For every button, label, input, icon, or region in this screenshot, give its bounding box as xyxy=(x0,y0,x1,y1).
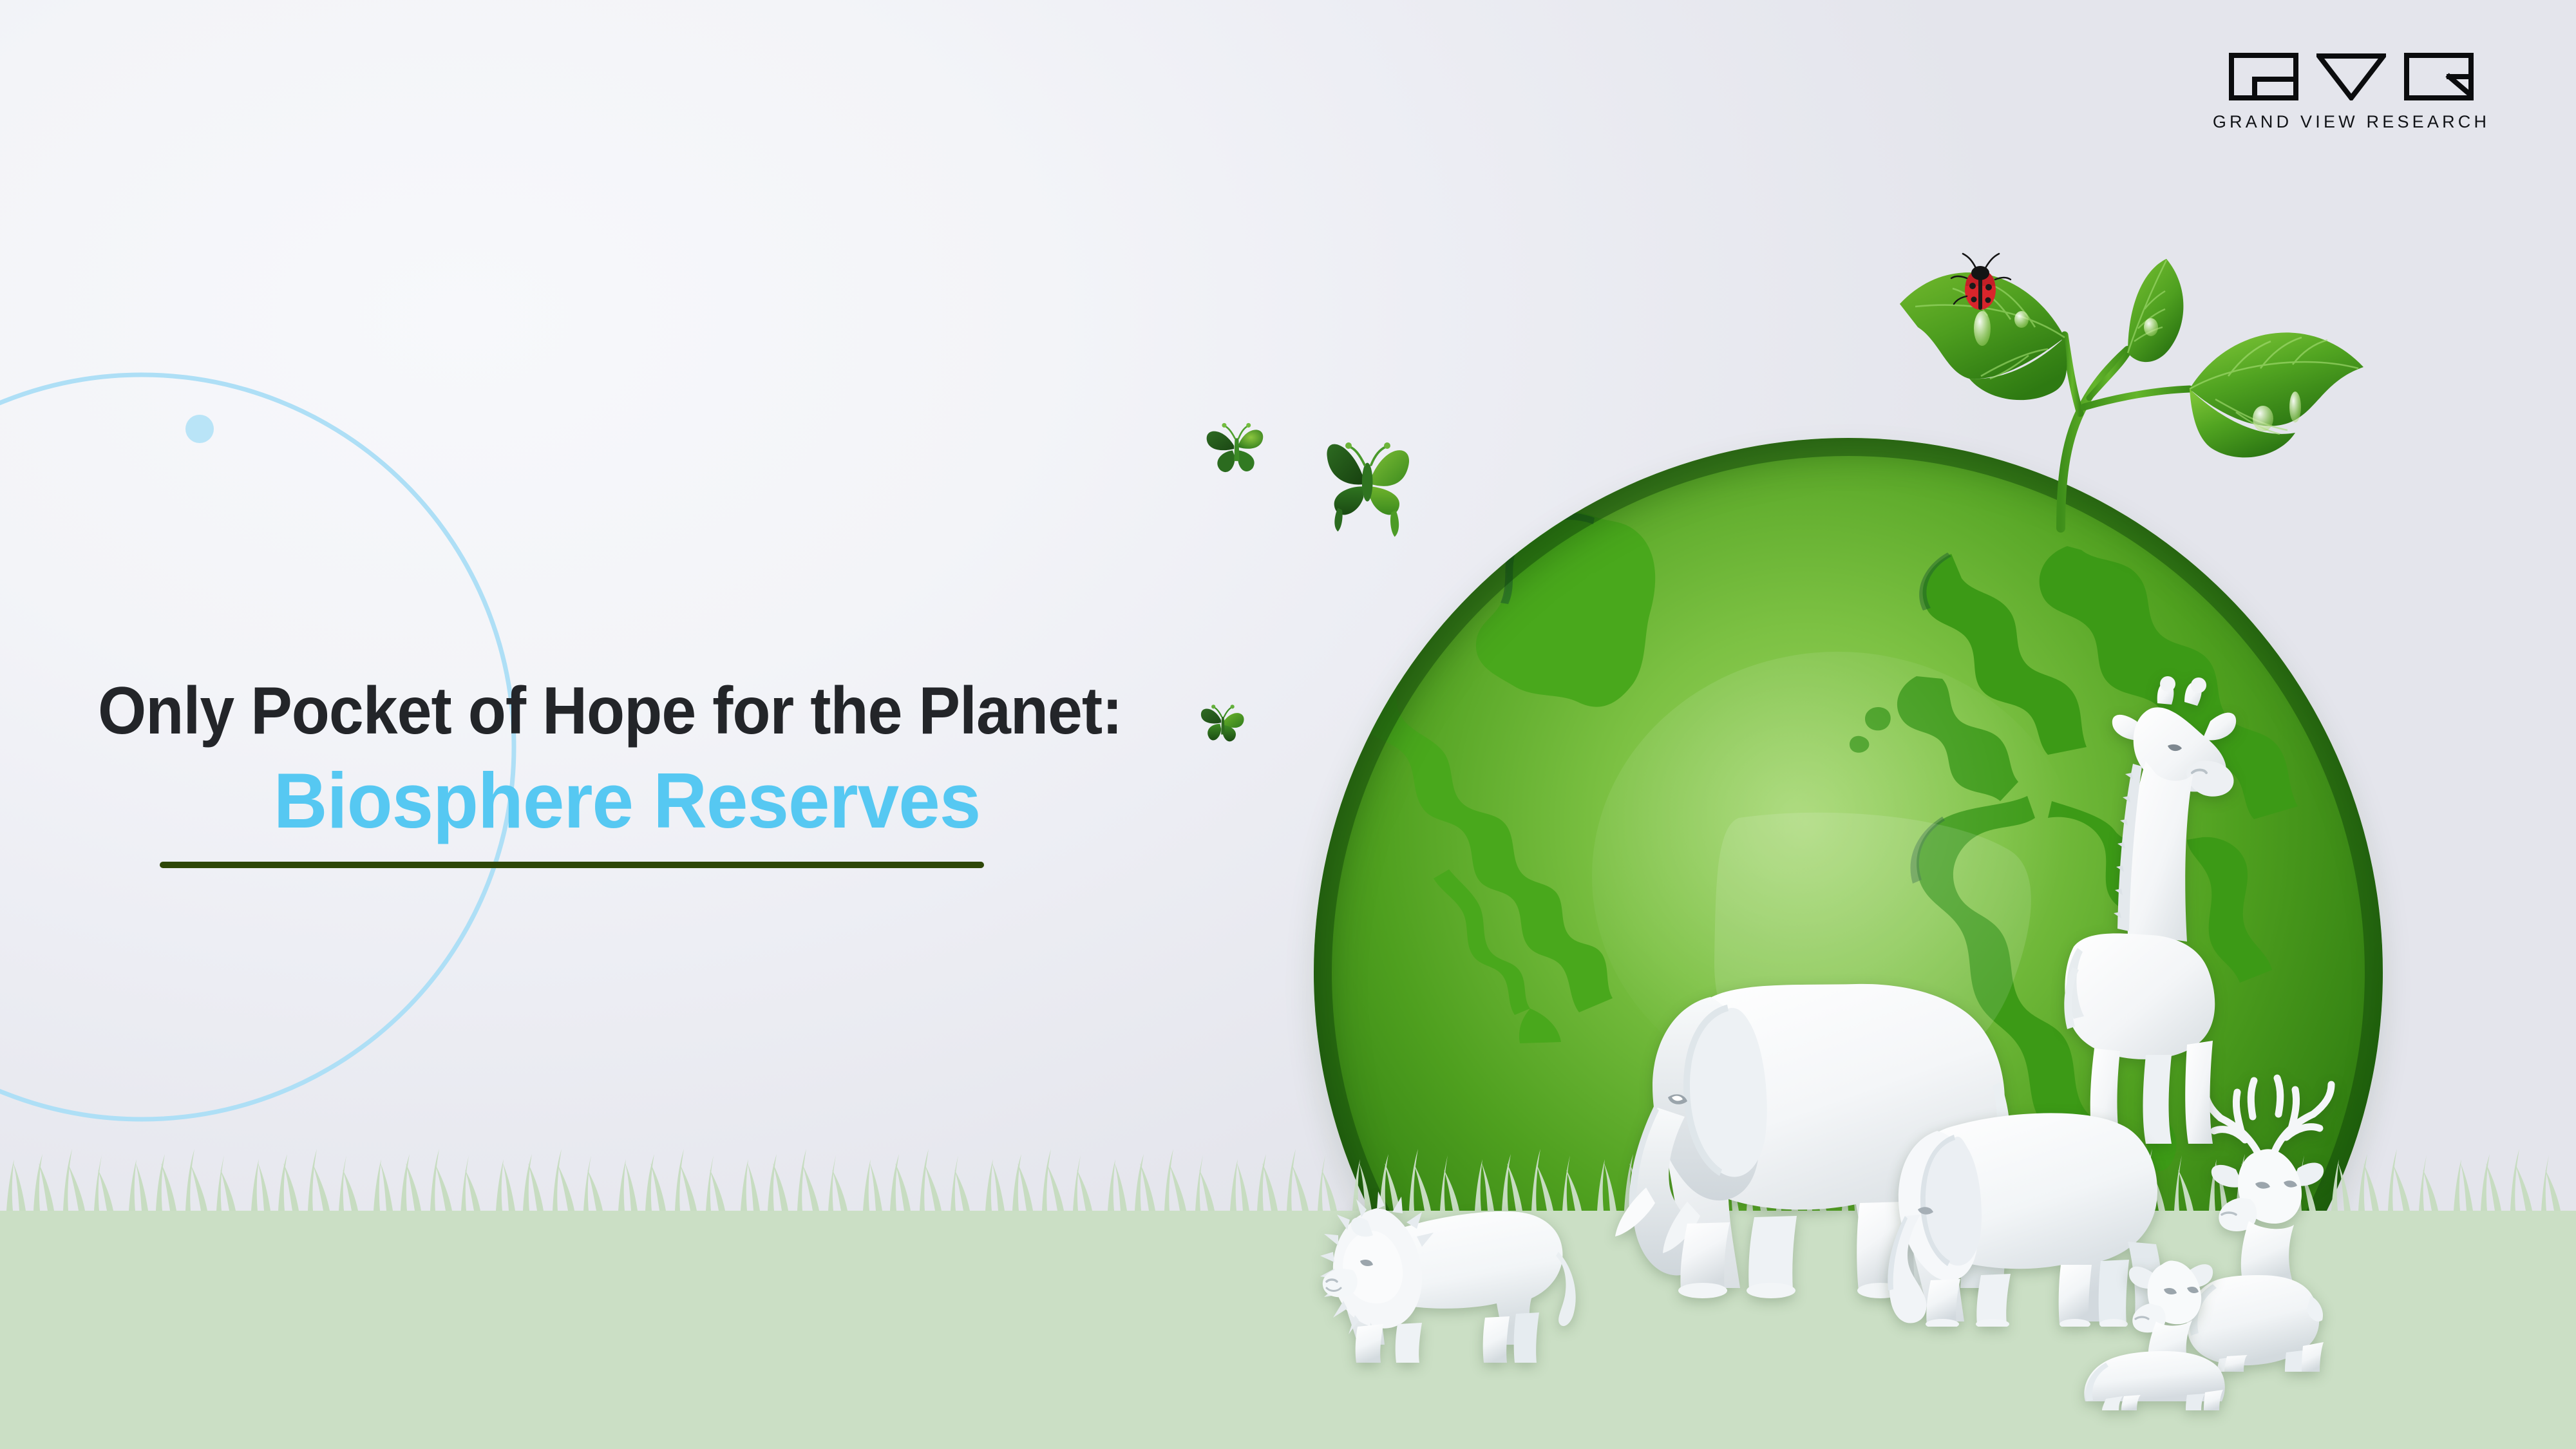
leaf-sprig-illustration xyxy=(1868,206,2396,541)
dewdrop-icon xyxy=(2144,318,2158,336)
banner-canvas: GRAND VIEW RESEARCH Only Pocket of Hope … xyxy=(0,0,2576,1449)
giraffe-illustration xyxy=(2061,676,2273,1153)
logo-r-icon xyxy=(2404,53,2474,100)
arc-dot-icon xyxy=(185,415,214,443)
lion-illustration xyxy=(1301,1172,1597,1365)
butterfly-small-left-icon xyxy=(1199,411,1275,490)
headline-block: Only Pocket of Hope for the Planet: Bios… xyxy=(98,676,1193,868)
butterfly-headline-icon xyxy=(1193,694,1252,757)
dewdrop-icon xyxy=(1974,311,1991,346)
title-underline xyxy=(160,862,984,868)
logo-marks xyxy=(2206,50,2496,103)
fawn-illustration xyxy=(2074,1249,2267,1410)
page-title-line2: Biosphere Reserves xyxy=(126,761,1166,840)
page-title-line1: Only Pocket of Hope for the Planet: xyxy=(98,676,1116,746)
dewdrop-icon xyxy=(2014,311,2029,328)
dewdrop-icon xyxy=(2289,392,2301,422)
brand-logo[interactable]: GRAND VIEW RESEARCH xyxy=(2206,50,2496,132)
logo-v-icon xyxy=(2316,53,2386,100)
logo-g-icon xyxy=(2229,53,2298,100)
dewdrop-icon xyxy=(2253,406,2273,431)
brand-name: GRAND VIEW RESEARCH xyxy=(2206,112,2496,132)
